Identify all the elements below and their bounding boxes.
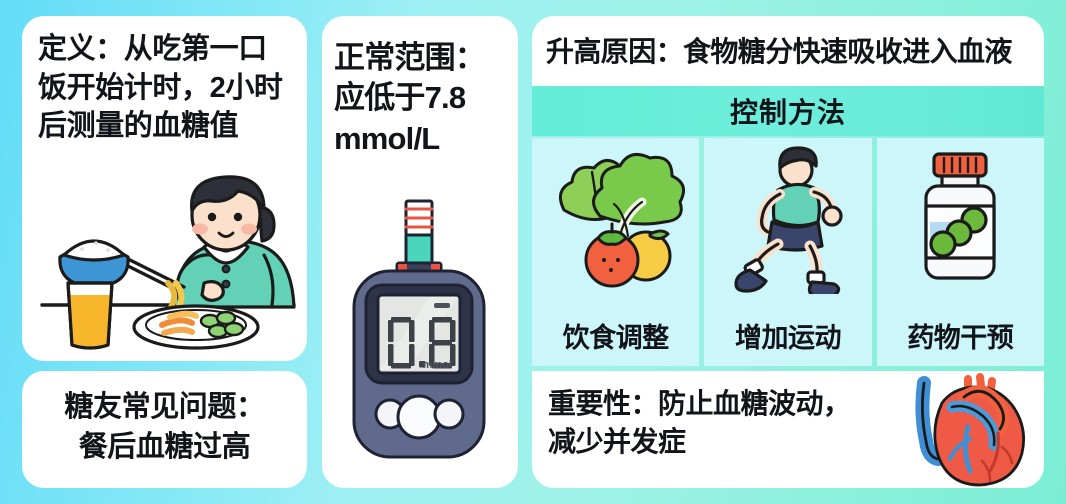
definition-card: 定义：从吃第一口 饭开始计时，2小时 后测量的血糖值 (22, 16, 307, 361)
methods-banner: 控制方法 (532, 86, 1044, 136)
anatomical-heart-illustration (898, 373, 1038, 488)
glucose-meter-illustration: mmol (336, 191, 504, 476)
methods-grid: 饮食调整 (532, 138, 1044, 366)
method-label-exercise: 增加运动 (735, 325, 841, 352)
methods-title: 控制方法 (730, 91, 846, 131)
method-label-diet: 饮食调整 (563, 325, 669, 352)
cause-text: 升高原因：食物糖分快速吸收进入血液 (546, 30, 1012, 70)
normal-range-text: 正常范围： 应低于7.8 mmol/L (334, 38, 512, 159)
method-cell-medication[interactable]: 药物干预 (877, 138, 1044, 366)
person-eating-meal-illustration (28, 165, 306, 355)
common-issue-card: 糖友常见问题： 餐后血糖过高 (22, 371, 307, 488)
vegetables-fruit-icon (542, 144, 690, 294)
running-person-icon (714, 144, 862, 294)
importance-text: 重要性：防止血糖波动， 减少并发症 (548, 385, 851, 460)
common-issue-text: 糖友常见问题： 餐后血糖过高 (22, 387, 307, 467)
method-label-medication: 药物干预 (907, 325, 1013, 352)
pill-bottle-icon (886, 144, 1034, 294)
cause-card: 升高原因：食物糖分快速吸收进入血液 (532, 16, 1044, 86)
meter-unit-label: mmol (423, 359, 452, 371)
infographic-root: 定义：从吃第一口 饭开始计时，2小时 后测量的血糖值 (0, 0, 1066, 504)
method-cell-diet[interactable]: 饮食调整 (532, 138, 699, 366)
definition-text: 定义：从吃第一口 饭开始计时，2小时 后测量的血糖值 (38, 30, 299, 146)
importance-card: 重要性：防止血糖波动， 减少并发症 (532, 371, 1044, 488)
normal-range-card: 正常范围： 应低于7.8 mmol/L (322, 16, 518, 488)
method-cell-exercise[interactable]: 增加运动 (704, 138, 871, 366)
